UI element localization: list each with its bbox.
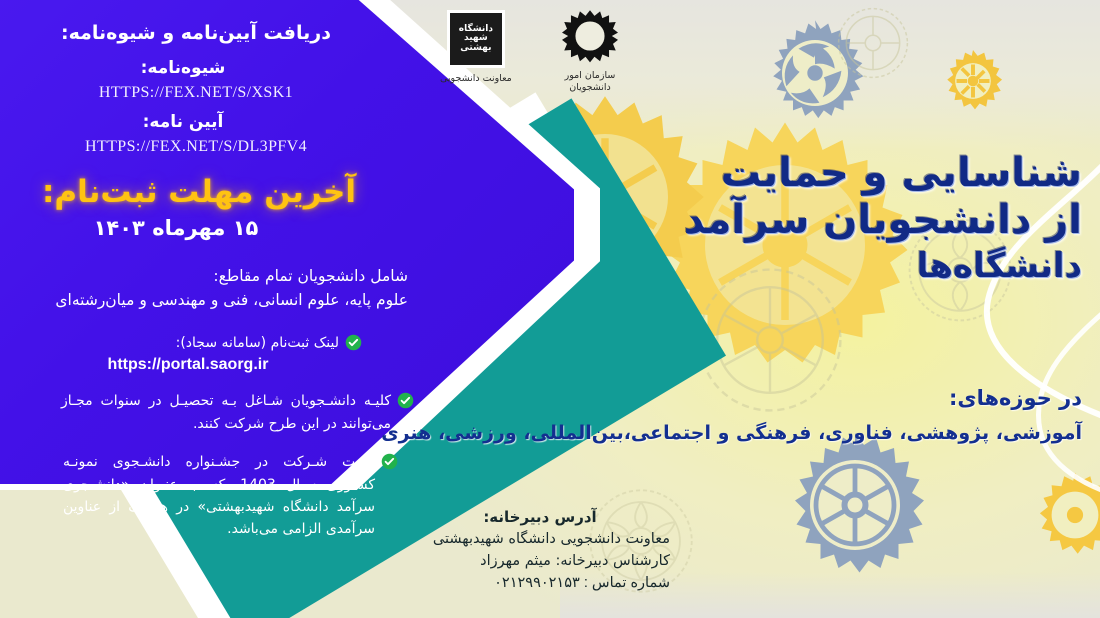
deadline-date: ۱۵ مهرماه ۱۴۰۳ <box>0 216 352 240</box>
shahid-beheshti-university-logo: دانشگاه شهید بهشتی معاونت دانشجویی <box>440 10 512 84</box>
logo-row: دانشگاه شهید بهشتی معاونت دانشجویی سازما… <box>430 6 650 110</box>
registration-portal-link[interactable]: https://portal.saorg.ir <box>0 356 376 374</box>
deadline-label: آخرین مهلت ثبت‌نام: <box>0 174 398 210</box>
check-circle-icon <box>381 453 398 470</box>
bullet-registration-text: لینک ثبت‌نام (سامانه سجاد): <box>176 332 339 354</box>
left-info-panel: دریافت آیین‌نامه و شیوه‌نامه: شیوه‌نامه:… <box>0 0 440 580</box>
fields-heading: در حوزه‌های: <box>442 386 1082 410</box>
main-title: شناسایی و حمایت از دانشجویان سرآمد دانشگ… <box>582 150 1082 286</box>
organization-emblem-icon <box>538 8 642 68</box>
regulation-label: آیین نامه: <box>0 112 366 132</box>
student-affairs-organization-logo: سازمان امور دانشجویان <box>538 8 642 94</box>
fields-block: در حوزه‌های: آموزشی، پژوهشی، فناوری، فره… <box>442 386 1082 444</box>
organization-caption-line-2: دانشجویان <box>538 82 642 94</box>
university-emblem-icon: دانشگاه شهید بهشتی <box>447 10 505 68</box>
university-emblem-text: دانشگاه شهید بهشتی <box>447 23 505 55</box>
fields-list: آموزشی، پژوهشی، فناوری، فرهنگی و اجتماعی… <box>442 422 1082 444</box>
scope-line-2: علوم پایه، علوم انسانی، فنی و مهندسی و م… <box>0 288 408 312</box>
title-line-3: دانشگاه‌ها <box>582 246 1082 286</box>
method-label: شیوه‌نامه: <box>0 58 366 78</box>
secretariat-title: آدرس دبیرخانه: <box>410 508 670 526</box>
organization-caption-line-1: سازمان امور <box>538 70 642 82</box>
scope-line-1: شامل دانشجویان تمام مقاطع: <box>0 264 408 288</box>
title-line-2: از دانشجویان سرآمد <box>582 197 1082 244</box>
poster-canvas: آدرس دبیرخانه: معاونت دانشجویی دانشگاه ش… <box>0 0 1100 618</box>
download-header: دریافت آیین‌نامه و شیوه‌نامه: <box>0 22 392 44</box>
bullet-item-festival: جهـت شـرکت در جشـنواره دانشـجوی نمونـه ک… <box>0 451 398 541</box>
regulation-url-link[interactable]: HTTPS://FEX.NET/S/DL3PFV4 <box>0 138 392 156</box>
check-circle-icon <box>397 392 414 409</box>
method-url-link[interactable]: HTTPS://FEX.NET/S/XSK1 <box>0 84 392 102</box>
bullet-eligibility-text: کلیـه دانشـجویان شـاغل بـه تحصیـل در سنو… <box>61 390 391 435</box>
title-line-1: شناسایی و حمایت <box>582 150 1082 197</box>
check-circle-icon <box>345 334 362 351</box>
bullet-item-registration: لینک ثبت‌نام (سامانه سجاد): <box>0 332 362 354</box>
university-logo-caption: معاونت دانشجویی <box>440 73 512 84</box>
bullet-item-eligibility: کلیـه دانشـجویان شـاغل بـه تحصیـل در سنو… <box>0 390 414 435</box>
bullet-festival-text: جهـت شـرکت در جشـنواره دانشـجوی نمونـه ک… <box>63 451 375 541</box>
